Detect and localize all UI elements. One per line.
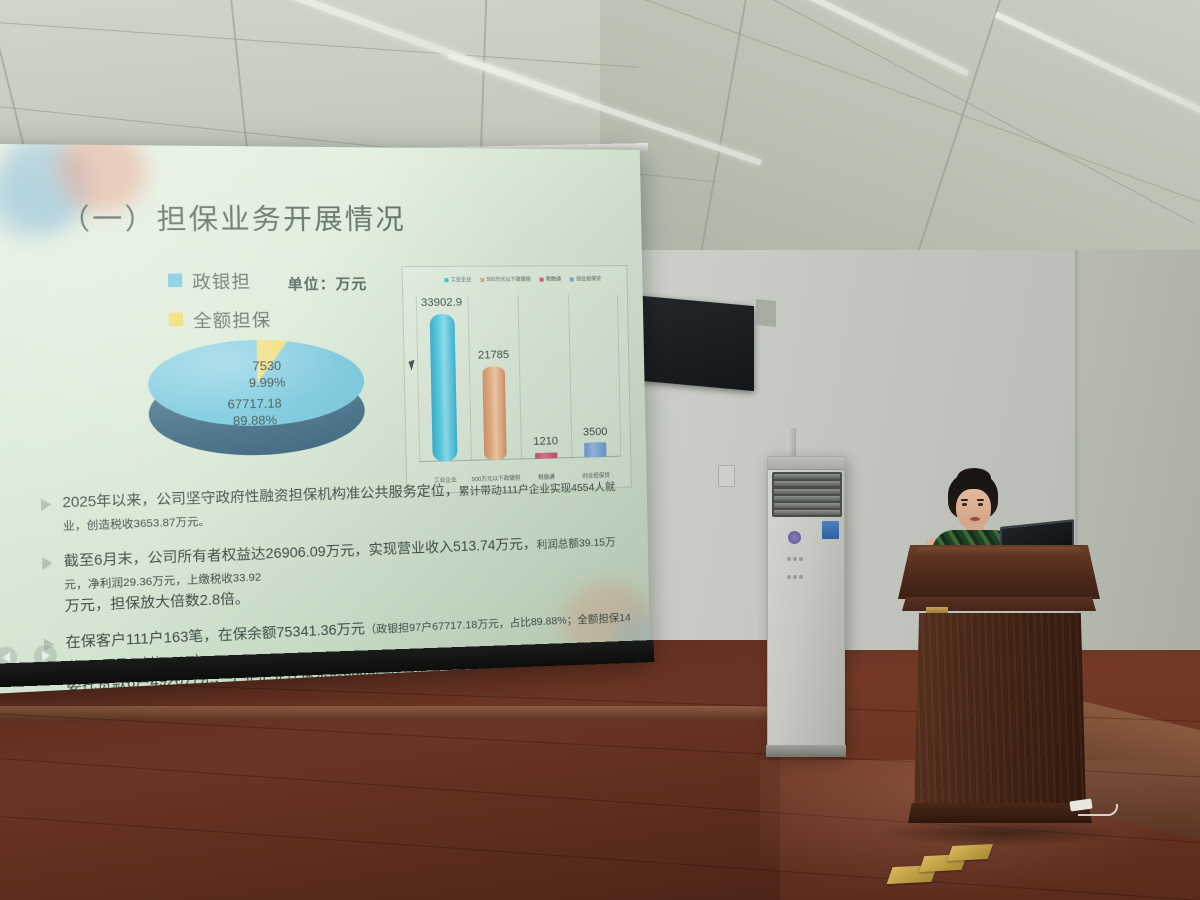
bullet-item: 2025年以来，公司坚守政府性融资担保机构准公共服务定位，累计带动111户企业实… <box>41 475 630 537</box>
presenter-mouth <box>970 517 980 521</box>
ac-control-panel[interactable] <box>786 549 808 563</box>
legend-swatch-icon <box>444 278 448 282</box>
bar-cylinder <box>584 442 606 457</box>
podium-wood-grain <box>914 613 1086 809</box>
podium-base <box>908 803 1092 823</box>
bullet-text: 截至6月末，公司所有者权益达26906.09万元，实现营业收入513.74万元，… <box>64 530 632 618</box>
bullet-text: 2025年以来，公司坚守政府性融资担保机构准公共服务定位，累计带动111户企业实… <box>62 475 629 537</box>
bar-column: 1210 税融通 <box>518 295 571 460</box>
bar-legend-item: 工业企业 <box>444 276 471 283</box>
bar-column: 21785 500万元以下政银担 <box>467 295 521 461</box>
bar-value-label: 1210 <box>533 435 558 448</box>
presenter-eyebrow <box>961 499 968 501</box>
ac-top-cap <box>768 457 844 470</box>
bar-legend-label: 税融通 <box>546 275 561 282</box>
pie-percent: 9.99% <box>249 375 286 390</box>
podium-top-surface <box>898 545 1100 599</box>
presenter-hair-bun <box>957 468 991 488</box>
bullet-triangle-icon <box>41 498 51 511</box>
slide-content: （一）担保业务开展情况 政银担 全额担保 单位：万元 <box>0 144 650 694</box>
slide-title: （一）担保业务开展情况 <box>59 196 406 238</box>
bar-value-label: 3500 <box>583 425 608 438</box>
bar-plot-area: 33902.9 工业企业 21785 500万元以下政银担 1210 税融通 <box>416 294 621 462</box>
podium-front-panel <box>914 613 1086 809</box>
pie-legend-label: 政银担 <box>192 267 251 294</box>
baseboard <box>0 706 770 720</box>
legend-swatch-icon <box>480 277 484 281</box>
pie-value: 7530 <box>252 358 281 373</box>
pie-slice-label-primary: 67717.18 89.88% <box>227 396 282 430</box>
pie-legend-item: 政银担 <box>168 267 271 294</box>
unit-label: 单位：万元 <box>287 273 367 294</box>
presenter-eyebrow <box>977 499 984 501</box>
pie-percent: 89.88% <box>233 412 277 428</box>
legend-swatch-icon <box>168 273 183 287</box>
bar-legend-label: 工业企业 <box>451 276 472 283</box>
ac-grille <box>772 472 842 517</box>
bar-cylinder <box>429 314 457 462</box>
chevron-right-icon <box>41 650 49 661</box>
bar-legend-label: 500万元以下政银担 <box>487 276 531 283</box>
bar-legend-item: 创业担保贷 <box>570 275 601 282</box>
presenter-eye <box>962 503 967 506</box>
podium <box>898 545 1100 835</box>
bullet-lead: 截至6月末，公司所有者权益达26906.09万元，实现营业收入513.74万元， <box>64 536 537 569</box>
pie-legend-item: 全额担保 <box>169 305 272 332</box>
legend-swatch-icon <box>169 312 184 326</box>
air-conditioner <box>767 456 845 756</box>
bar-cylinder <box>483 366 507 460</box>
bar-chart-legend: 工业企业 500万元以下政银担 税融通 创业担保贷 <box>444 275 601 283</box>
ac-brand-logo-icon <box>788 531 801 544</box>
bar-value-label: 33902.9 <box>421 296 462 309</box>
pie-chart: 7530 9.99% 67717.18 89.88% <box>147 339 366 464</box>
pie-slice-label-secondary: 7530 9.99% <box>248 358 285 391</box>
floor-access-plate <box>947 844 993 861</box>
pie-value: 67717.18 <box>227 396 281 412</box>
bar-chart: 工业企业 500万元以下政银担 税融通 创业担保贷 <box>402 265 632 494</box>
chevron-left-icon <box>2 652 10 663</box>
bullet-line1-lead: 在保客户111户163笔，在保余额75341.36万元 <box>65 620 365 650</box>
projection-screen: （一）担保业务开展情况 政银担 全额担保 单位：万元 <box>0 144 650 694</box>
bullet-lead: 2025年以来，公司坚守政府性融资担保机构准公共服务定位， <box>62 483 459 511</box>
projection-screen-area: （一）担保业务开展情况 政银担 全额担保 单位：万元 <box>20 150 645 660</box>
presenter-eye <box>978 503 983 506</box>
legend-swatch-icon <box>570 277 574 281</box>
bar-legend-item: 税融通 <box>540 275 561 282</box>
bullet-lead2: 万元，担保放大倍数2.8倍。 <box>65 590 250 614</box>
ac-base <box>766 745 846 757</box>
legend-swatch-icon <box>540 277 544 281</box>
bullet-triangle-icon <box>42 557 52 570</box>
bar-legend-item: 500万元以下政银担 <box>480 276 530 283</box>
bar-cylinder <box>535 453 557 459</box>
display-bracket <box>756 299 776 327</box>
wall-outlet <box>718 465 735 487</box>
pie-chart-legend: 政银担 全额担保 <box>168 267 272 346</box>
bar-value-label: 21785 <box>478 349 510 362</box>
bar-column: 33902.9 工业企业 <box>416 295 471 462</box>
bullet-item: 截至6月末，公司所有者权益达26906.09万元，实现营业收入513.74万元，… <box>42 530 631 618</box>
power-cable <box>1078 804 1118 816</box>
pie-legend-label: 全额担保 <box>193 305 272 332</box>
wall-display-panel <box>632 295 754 391</box>
bar-legend-label: 创业担保贷 <box>576 275 601 282</box>
podium-lip <box>912 547 1086 557</box>
ac-energy-label <box>822 521 839 539</box>
bar-column: 3500 创业担保贷 <box>568 294 621 458</box>
